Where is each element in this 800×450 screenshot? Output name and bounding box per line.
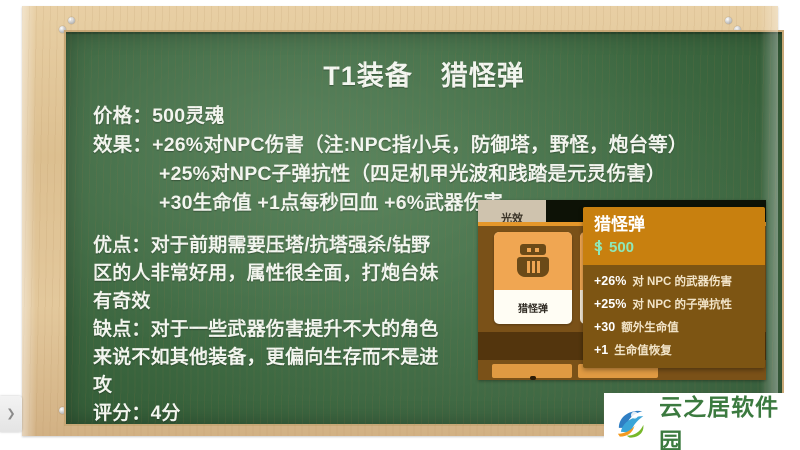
board-line-price: 价格：500灵魂 bbox=[93, 102, 781, 131]
shop-item-name: 猎怪弹 bbox=[494, 290, 572, 324]
board-line-effect-2: +25%对NPC子弹抗性（四足机甲光波和践踏是元灵伤害） bbox=[93, 160, 781, 189]
tooltip-stat-label: 对 NPC 的武器伤害 bbox=[632, 273, 732, 289]
frame-screw-top-left-inner bbox=[59, 26, 66, 33]
robot-icon bbox=[516, 244, 550, 278]
shop-tab-label: 光效 bbox=[501, 210, 523, 222]
tooltip-stat-row: +26% 对 NPC 的武器伤害 bbox=[594, 273, 754, 289]
tooltip-stat-value: +30 bbox=[594, 320, 615, 334]
watermark: 云之居软件园 bbox=[604, 393, 800, 450]
cloud-swoosh-logo-icon bbox=[613, 402, 652, 442]
side-pull-tab[interactable]: ❯ bbox=[0, 396, 22, 432]
shop-slot-nub-a bbox=[530, 376, 536, 380]
frame-screw-top-left bbox=[68, 17, 75, 24]
tooltip-header: 猎怪弹 500 bbox=[583, 207, 765, 265]
frame-screw-top-right bbox=[725, 17, 732, 24]
tooltip-stat-value: +25% bbox=[594, 297, 626, 311]
shop-item-card-selected[interactable]: 猎怪弹 bbox=[494, 232, 572, 324]
tooltip-stat-label: 生命值恢复 bbox=[614, 342, 672, 358]
soul-currency-icon bbox=[594, 240, 605, 255]
tooltip-stat-label: 对 NPC 的子弹抗性 bbox=[632, 296, 732, 312]
tooltip-stat-row: +25% 对 NPC 的子弹抗性 bbox=[594, 296, 754, 312]
tooltip-stats-list: +26% 对 NPC 的武器伤害 +25% 对 NPC 的子弹抗性 +30 额外… bbox=[583, 265, 765, 368]
tooltip-stat-row: +1 生命值恢复 bbox=[594, 342, 754, 358]
shop-item-art bbox=[494, 232, 572, 290]
tooltip-item-name: 猎怪弹 bbox=[594, 215, 754, 235]
item-tooltip: 猎怪弹 500 +26% 对 NPC 的武器伤害 +25% 对 NPC 的子弹抗… bbox=[583, 207, 765, 368]
board-line-rating: 评分：4分 bbox=[93, 400, 563, 424]
chevron-right-icon: ❯ bbox=[6, 409, 15, 420]
tooltip-stat-row: +30 额外生命值 bbox=[594, 319, 754, 335]
tooltip-price: 500 bbox=[594, 239, 754, 256]
page-title: T1装备 猎怪弹 bbox=[66, 54, 782, 93]
frame-screw-bottom-left bbox=[59, 407, 66, 414]
screenshot-stage: T1装备 猎怪弹 价格：500灵魂 效果：+26%对NPC伤害（注:NPC指小兵… bbox=[0, 0, 800, 450]
tooltip-stat-value: +26% bbox=[594, 274, 626, 288]
watermark-text: 云之居软件园 bbox=[659, 388, 800, 450]
tooltip-stat-label: 额外生命值 bbox=[621, 319, 679, 335]
tooltip-stat-value: +1 bbox=[594, 343, 608, 357]
board-line-effect-1: 效果：+26%对NPC伤害（注:NPC指小兵，防御塔，野怪，炮台等） bbox=[93, 131, 781, 160]
tooltip-price-value: 500 bbox=[609, 239, 634, 256]
shop-tab-active[interactable]: 光效 bbox=[478, 200, 546, 222]
